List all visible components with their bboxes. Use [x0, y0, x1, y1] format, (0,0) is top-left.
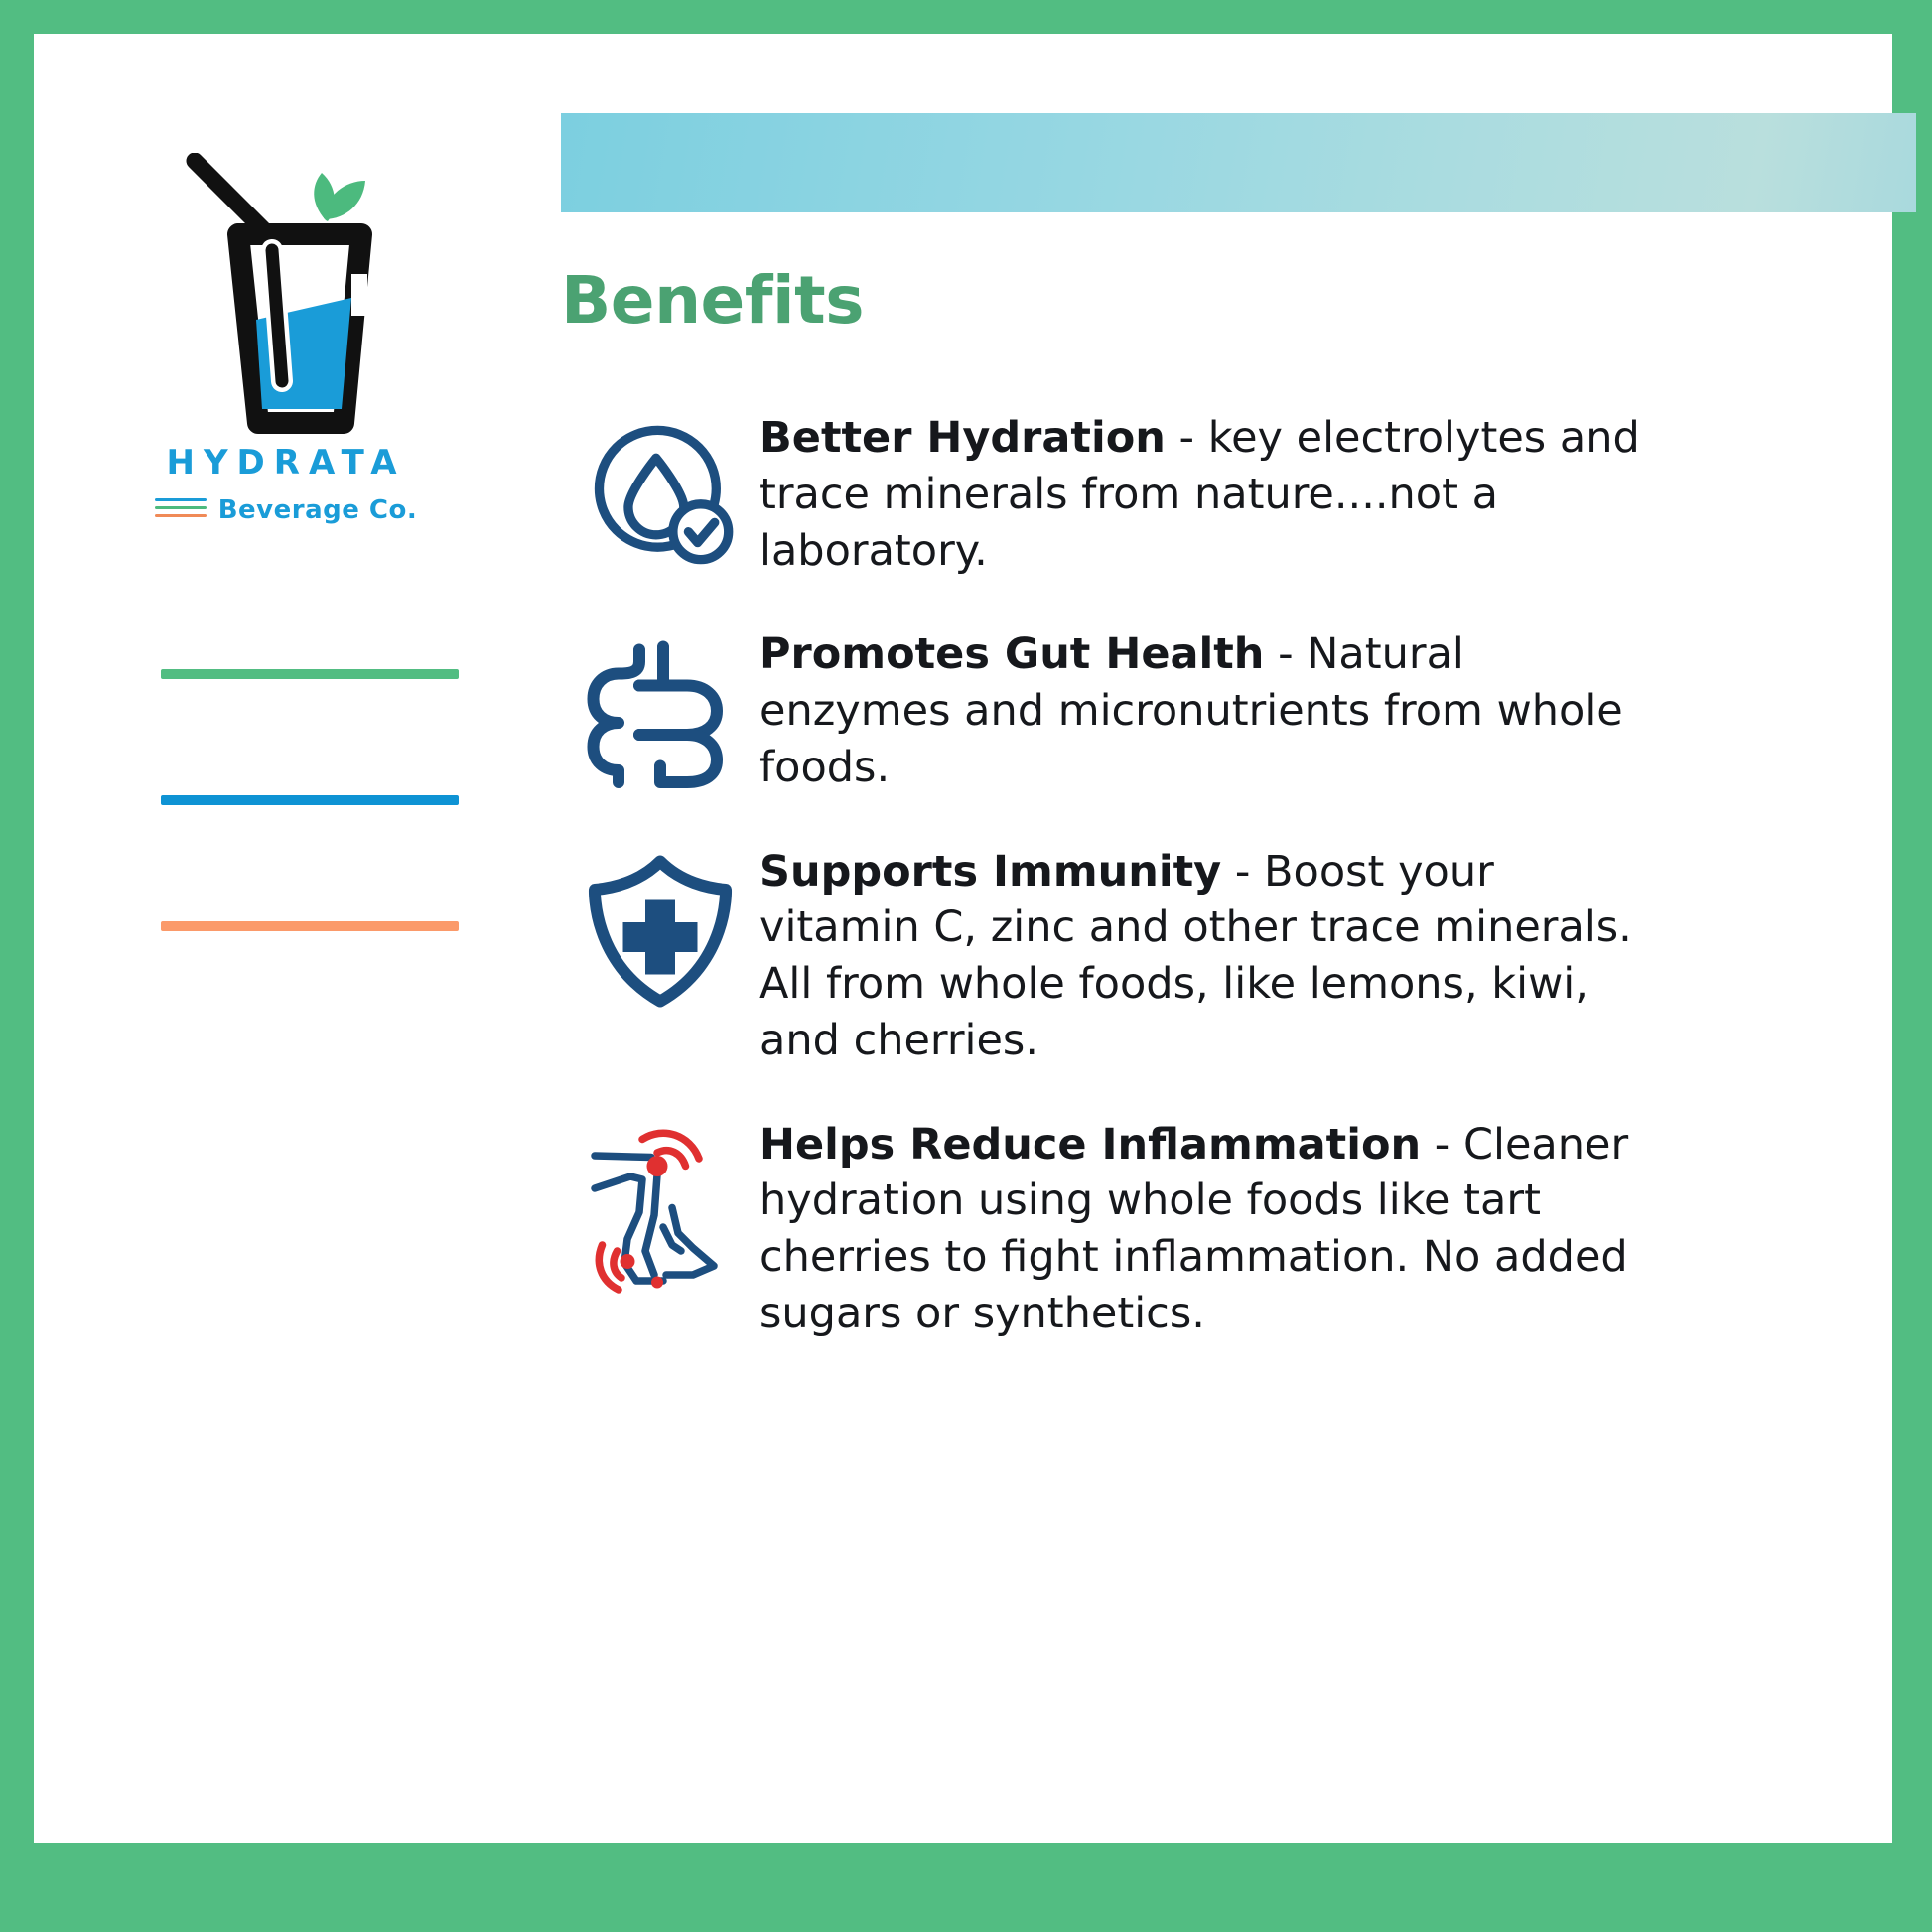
benefit-icon-slot: [561, 844, 759, 1011]
shield-cross-icon: [586, 852, 735, 1011]
list-item: Better Hydration - key electrolytes and …: [561, 410, 1832, 579]
list-item: Promotes Gut Health - Natural enzymes an…: [561, 626, 1832, 795]
brand-name: HYDRATA: [68, 443, 504, 483]
decorative-rules: [161, 669, 459, 931]
page-title: Benefits: [561, 262, 1832, 339]
main-content: Benefits Better Hydration - key electrol…: [561, 262, 1832, 1342]
blue-rule: [161, 795, 459, 805]
benefit-text: Supports Immunity - Boost your vitamin C…: [759, 844, 1653, 1069]
benefit-separator: -: [1166, 413, 1208, 463]
header-gradient-banner: [561, 113, 1916, 212]
benefit-text: Promotes Gut Health - Natural enzymes an…: [759, 626, 1653, 795]
benefit-icon-slot: [561, 1117, 759, 1294]
poster-canvas: HYDRATA Beverage Co. Benefits: [34, 34, 1892, 1843]
list-item: Supports Immunity - Boost your vitamin C…: [561, 844, 1832, 1069]
benefit-separator: -: [1421, 1120, 1463, 1170]
water-drop-check-icon: [584, 418, 738, 572]
benefit-title: Promotes Gut Health: [759, 629, 1264, 679]
orange-rule: [161, 921, 459, 931]
poster-page: HYDRATA Beverage Co. Benefits: [0, 0, 1932, 1932]
benefit-separator: -: [1264, 629, 1307, 679]
brand-tagline-row: Beverage Co.: [68, 495, 504, 525]
cup-with-straw-and-leaf-icon: [177, 153, 415, 441]
logo-three-lines-icon: [155, 498, 207, 522]
benefits-list: Better Hydration - key electrolytes and …: [561, 410, 1832, 1342]
benefit-text: Better Hydration - key electrolytes and …: [759, 410, 1653, 579]
benefit-title: Helps Reduce Inflammation: [759, 1120, 1421, 1170]
list-item: Helps Reduce Inflammation - Cleaner hydr…: [561, 1117, 1832, 1342]
green-rule: [161, 669, 459, 679]
benefit-icon-slot: [561, 626, 759, 793]
benefit-icon-slot: [561, 410, 759, 572]
benefit-text: Helps Reduce Inflammation - Cleaner hydr…: [759, 1117, 1653, 1342]
joint-inflammation-icon: [586, 1125, 735, 1294]
benefit-title: Supports Immunity: [759, 847, 1221, 897]
intestine-gut-icon: [586, 634, 735, 793]
benefit-separator: -: [1221, 847, 1264, 897]
benefit-title: Better Hydration: [759, 413, 1166, 463]
brand-tagline: Beverage Co.: [218, 495, 418, 525]
sidebar: HYDRATA Beverage Co.: [68, 153, 534, 550]
brand-logo: HYDRATA Beverage Co.: [68, 153, 534, 550]
